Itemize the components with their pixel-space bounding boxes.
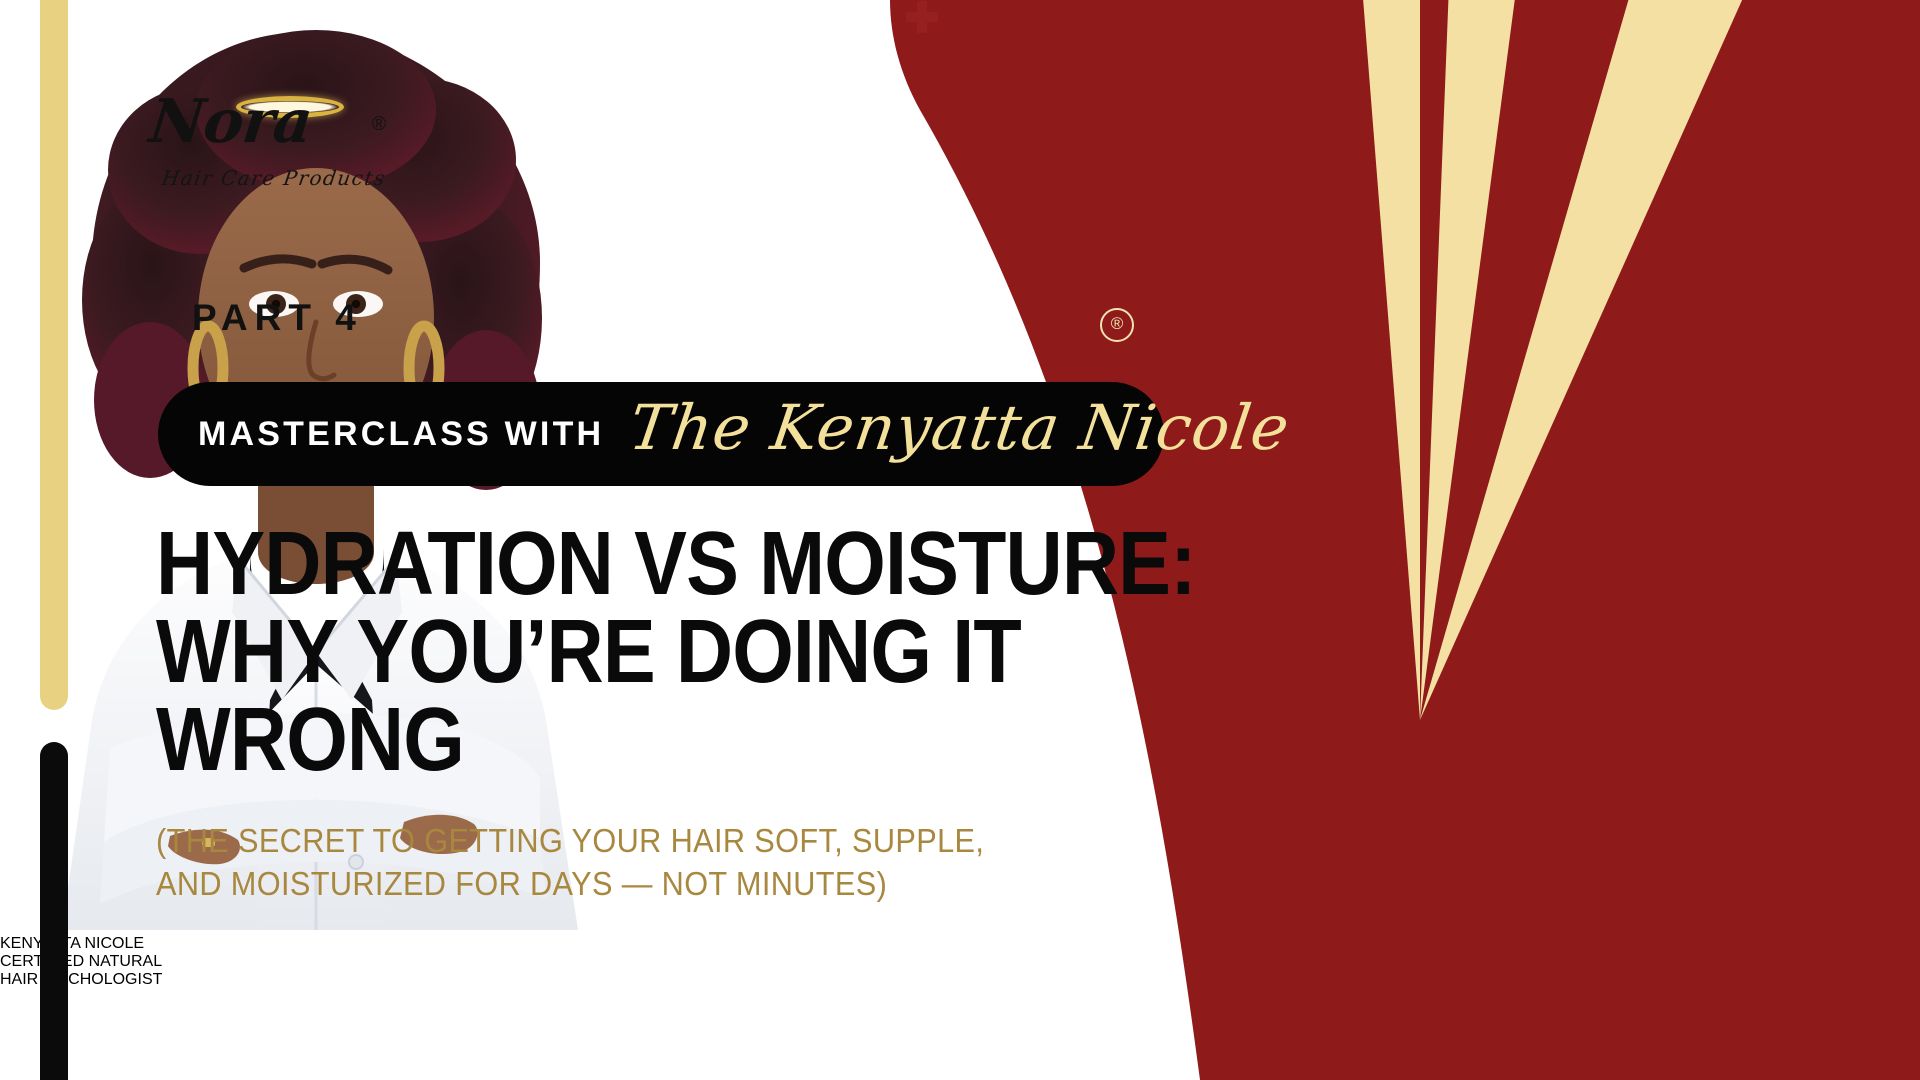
headline-line-2: WHY YOU’RE DOING IT	[156, 608, 1124, 696]
subtitle-line-2: AND MOISTURIZED FOR DAYS — NOT MINUTES)	[156, 863, 1198, 906]
part-label: PART 4	[192, 297, 363, 339]
left-accent-bar-gold	[40, 0, 68, 710]
page-subtitle: (THE SECRET TO GETTING YOUR HAIR SOFT, S…	[156, 820, 1198, 906]
host-name: The Kenyatta Nicole	[626, 397, 1294, 459]
masterclass-label: MASTERCLASS WITH	[198, 415, 604, 454]
masterclass-banner: MASTERCLASS WITH The Kenyatta Nicole	[158, 382, 1164, 486]
promo-slide: Nora ® Hair Care Products ® PART 4 MASTE…	[0, 0, 1920, 1080]
page-title: HYDRATION VS MOISTURE: WHY YOU’RE DOING …	[156, 520, 1124, 785]
registered-trademark-icon: ®	[372, 114, 386, 136]
left-accent-bar-black	[40, 742, 68, 1080]
registered-watermark-icon: ®	[1100, 308, 1134, 342]
headline-line-1: HYDRATION VS MOISTURE:	[156, 520, 1124, 608]
brand-logo-tagline: Hair Care Products	[160, 166, 387, 190]
subtitle-line-1: (THE SECRET TO GETTING YOUR HAIR SOFT, S…	[156, 820, 1198, 863]
headline-line-3: WRONG	[156, 696, 1124, 784]
brand-logo[interactable]: Nora ® Hair Care Products	[150, 92, 410, 202]
